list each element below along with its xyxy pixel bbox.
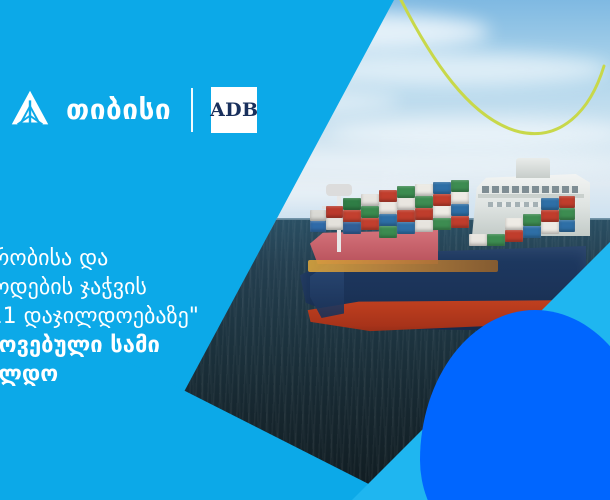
shipping-container <box>397 222 415 234</box>
shipping-container <box>310 210 326 221</box>
shipping-container <box>451 192 469 204</box>
shipping-container <box>415 220 433 232</box>
ship-mast-top <box>326 184 352 196</box>
ship-deck-rail <box>308 260 498 272</box>
shipping-container <box>559 196 575 208</box>
shipping-container <box>415 196 433 208</box>
headline-line: მინოდების ჯაჭვის <box>0 273 330 302</box>
shipping-container <box>433 206 451 218</box>
shipping-container <box>326 206 343 218</box>
shipping-container <box>541 222 559 234</box>
ship-bridge-windows <box>482 186 578 193</box>
adb-logo: ADB <box>211 87 257 133</box>
cloud <box>330 118 610 148</box>
cloud <box>190 12 490 52</box>
logo-bar: თიბისი ADB <box>0 86 257 134</box>
shipping-container <box>379 190 397 202</box>
shipping-container <box>505 218 523 230</box>
adb-logo-text: ADB <box>210 99 258 121</box>
shipping-container <box>397 210 415 222</box>
shipping-container <box>343 210 361 222</box>
shipping-container <box>433 182 451 194</box>
shipping-container <box>523 226 541 238</box>
headline-line: ვაჭრობისა და <box>0 244 330 273</box>
headline-line: მე-11 დაჯილდოებაზე" <box>0 302 330 331</box>
shipping-container <box>310 221 326 232</box>
headline-line: მოკოვებული სამი <box>0 331 330 360</box>
shipping-container <box>361 206 379 218</box>
shipping-container <box>469 234 487 246</box>
cloud <box>280 52 610 86</box>
shipping-container <box>505 230 523 242</box>
shipping-container <box>326 218 343 230</box>
shipping-container <box>379 226 397 238</box>
shipping-container <box>451 216 469 228</box>
shipping-container <box>361 218 379 230</box>
shipping-container <box>379 202 397 214</box>
shipping-container <box>559 220 575 232</box>
shipping-container <box>541 198 559 210</box>
tbc-wordmark: თიბისი <box>66 96 171 124</box>
shipping-container <box>451 204 469 216</box>
shipping-container <box>343 198 361 210</box>
shipping-container <box>451 180 469 192</box>
ship-funnel <box>516 158 550 178</box>
headline-line: ჯილდო <box>0 360 330 389</box>
promotional-banner: თიბისი ADB ვაჭრობისა დამინოდების ჯაჭვისმ… <box>0 0 610 500</box>
shipping-container <box>487 234 505 246</box>
shipping-container <box>379 214 397 226</box>
logo-divider <box>191 88 193 132</box>
shipping-container <box>343 222 361 234</box>
shipping-container <box>523 214 541 226</box>
tbc-triangle-icon <box>6 86 54 134</box>
shipping-container <box>541 210 559 222</box>
shipping-container <box>415 184 433 196</box>
shipping-container <box>397 198 415 210</box>
shipping-container <box>433 218 451 230</box>
shipping-container <box>433 194 451 206</box>
headline-text-block: ვაჭრობისა დამინოდების ჯაჭვისმე-11 დაჯილდ… <box>0 244 330 389</box>
shipping-container <box>559 208 575 220</box>
shipping-container <box>397 186 415 198</box>
shipping-container <box>415 208 433 220</box>
shipping-container <box>361 194 379 206</box>
